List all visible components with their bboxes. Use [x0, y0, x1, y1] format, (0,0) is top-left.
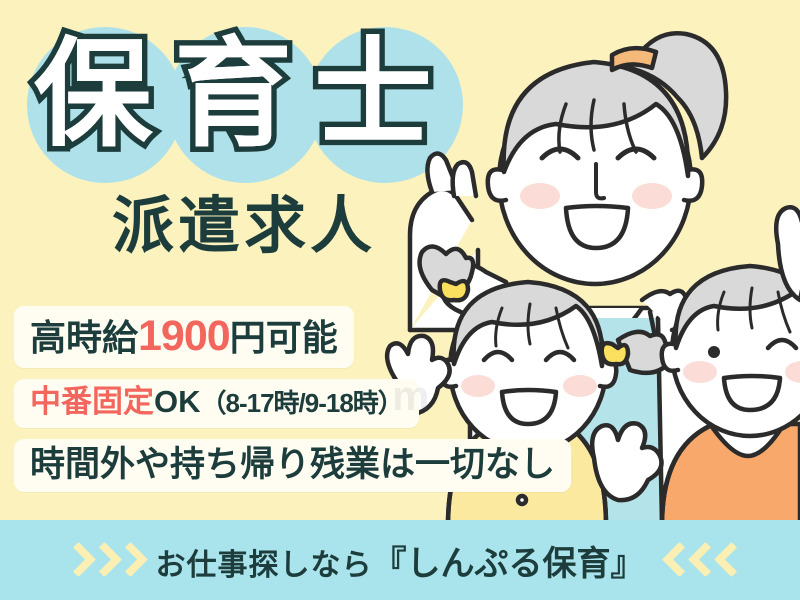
chevron-right-icon [90, 543, 110, 577]
chevron-left-icon [691, 543, 711, 577]
badge-shift-highlight: 中番固定 [30, 384, 154, 419]
chevron-right-group [64, 543, 136, 577]
chevron-left-icon [665, 543, 685, 577]
badge-wage-prefix: 高時給 [30, 317, 138, 358]
badge-shift: 中番固定OK（8-17時/9-18時） [14, 379, 419, 428]
badge-overtime: 時間外や持ち帰り残業は一切なし [14, 439, 571, 492]
badge-wage-suffix: 円可能 [230, 317, 338, 358]
badge-shift-hours: （8-17時/9-18時） [201, 388, 403, 418]
banner-lead: お仕事探しなら [156, 549, 373, 582]
badge-wage: 高時給1900円可能 [14, 306, 354, 368]
feature-badge-list: 高時給1900円可能 中番固定OK（8-17時/9-18時） 時間外や持ち帰り残… [14, 306, 554, 503]
badge-wage-number: 1900 [138, 312, 230, 360]
title-circle-1 [27, 27, 183, 183]
chevron-left-icon [717, 543, 737, 577]
badge-overtime-text: 時間外や持ち帰り残業は一切なし [30, 445, 555, 484]
chevron-right-icon [116, 543, 136, 577]
poster-root: 保育士 保育士 派遣求人 高時給1900円可能 中番固定OK（8-17時/9-1… [0, 0, 800, 600]
bottom-banner: お仕事探しなら『しんぷる保育』 [0, 520, 800, 600]
page-subtitle: 派遣求人 [112, 196, 376, 258]
banner-brand: しんぷる保育 [407, 545, 611, 583]
banner-open-bracket: 『 [373, 545, 407, 583]
title-circle-2 [167, 27, 323, 183]
banner-close-bracket: 』 [611, 545, 645, 583]
chevron-right-icon [64, 543, 84, 577]
chevron-left-group [665, 543, 737, 577]
badge-shift-rest: OK [154, 384, 201, 419]
banner-text: お仕事探しなら『しんぷる保育』 [156, 536, 645, 585]
